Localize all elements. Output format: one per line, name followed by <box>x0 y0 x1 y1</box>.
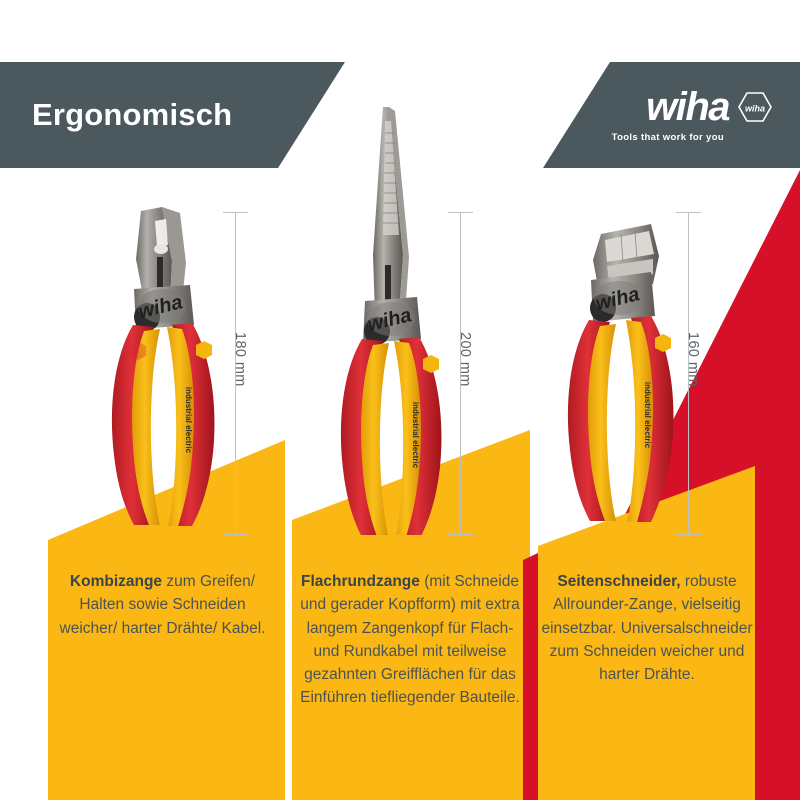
caption-lead-kombizange: Kombizange <box>70 573 162 590</box>
page-title: Ergonomisch <box>32 62 232 168</box>
caption-lead-seitenschneider: Seitenschneider, <box>557 573 680 590</box>
logo-hexagon-icon: wiha <box>738 92 772 122</box>
logo-wordmark: wiha <box>646 87 729 127</box>
caption-body-flachrundzange: (mit Schneide und gerader Kopfform) mit … <box>300 573 520 706</box>
svg-text:wiha: wiha <box>745 104 765 114</box>
brand-logo: wiha wiha Tools that work for you <box>612 62 772 168</box>
product-image-kombizange: wiha industrial electric <box>100 205 250 540</box>
product-image-flachrundzange: wiha industrial electric <box>325 105 475 540</box>
infographic-canvas: Ergonomisch wiha wiha Tools that work fo… <box>0 0 800 800</box>
logo-tagline: Tools that work for you <box>612 132 724 143</box>
svg-text:industrial electric: industrial electric <box>411 402 420 469</box>
caption-flachrundzange: Flachrundzange (mit Schneide und gerader… <box>296 570 524 710</box>
caption-seitenschneider: Seitenschneider, robuste Allrounder-Zang… <box>538 570 756 686</box>
caption-kombizange: Kombizange zum Greifen/ Halten sowie Sch… <box>55 570 270 640</box>
svg-text:industrial electric: industrial electric <box>184 387 193 454</box>
logo-row: wiha wiha <box>646 87 772 127</box>
svg-text:industrial electric: industrial electric <box>643 382 652 449</box>
caption-lead-flachrundzange: Flachrundzange <box>301 573 420 590</box>
product-image-seitenschneider: wiha industrial electric <box>555 210 705 545</box>
